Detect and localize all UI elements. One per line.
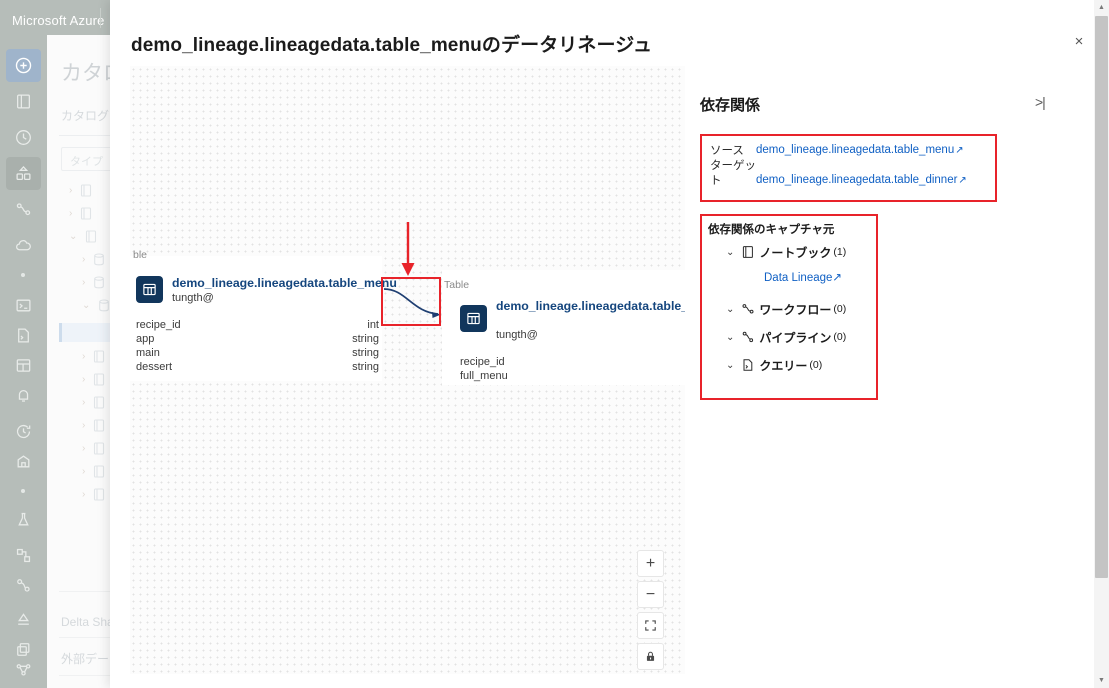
- lineage-modal: demo_lineage.lineagedata.table_menuのデータリ…: [110, 0, 1109, 688]
- target-label-line1: ターゲッ: [710, 159, 756, 174]
- topbar-divider: [100, 8, 101, 28]
- capture-source-box: 依存関係のキャプチャ元 ⌄ ノートブック (1) Data Lineage↗ ⌄: [700, 214, 878, 400]
- chevron-down-icon: ⌄: [726, 332, 734, 343]
- source-column-row[interactable]: main string: [136, 347, 379, 361]
- zoom-in-button[interactable]: +: [637, 550, 664, 577]
- column-type: int: [367, 319, 379, 331]
- catalog-subtitle: カタログ: [61, 107, 109, 124]
- rail-item-add[interactable]: [6, 49, 41, 82]
- capture-group-workflow[interactable]: ⌄ ワークフロー (0): [726, 300, 846, 318]
- column-name: recipe_id: [460, 356, 505, 368]
- chevron-right-icon: ›: [82, 351, 85, 362]
- capture-group-count: (0): [833, 331, 846, 343]
- catalog-search-placeholder: タイプ: [70, 153, 103, 169]
- source-column-row[interactable]: recipe_id int: [136, 319, 379, 333]
- capture-group-query[interactable]: ⌄ クエリー (0): [726, 356, 822, 374]
- column-name: recipe_id: [136, 319, 181, 331]
- source-node-name[interactable]: demo_lineage.lineagedata.table_menu: [172, 276, 377, 291]
- catalog-tree-item[interactable]: ⌄: [82, 295, 110, 315]
- catalog-tree-item[interactable]: ›: [82, 369, 105, 389]
- capture-group-count: (0): [833, 303, 846, 315]
- rail-item-terminal[interactable]: [6, 289, 41, 322]
- target-node-kind-label: Table: [444, 279, 469, 291]
- chevron-right-icon: ›: [82, 489, 85, 500]
- external-link-icon: ↗: [958, 175, 966, 186]
- capture-group-label: ノートブック: [759, 244, 831, 261]
- rail-item-recent[interactable]: [6, 121, 41, 154]
- catalog-tree-item[interactable]: ›: [69, 203, 92, 223]
- lineage-canvas[interactable]: ble demo_lineage.lineagedata.table_menu …: [130, 66, 685, 674]
- capture-group-label: パイプライン: [759, 329, 831, 346]
- annotation-arrow-icon: [392, 222, 432, 280]
- chevron-right-icon: ›: [82, 420, 85, 431]
- rail-item-experiments[interactable]: [6, 503, 41, 536]
- modal-scrollbar[interactable]: ▲ ▼: [1094, 0, 1109, 688]
- scrollbar-thumb[interactable]: [1095, 16, 1108, 578]
- capture-group-count: (0): [809, 359, 822, 371]
- chevron-right-icon: ›: [82, 374, 85, 385]
- chevron-down-icon: ⌄: [69, 231, 77, 242]
- capture-child-data-lineage[interactable]: Data Lineage↗: [764, 270, 842, 284]
- capture-source-title: 依存関係のキャプチャ元: [708, 221, 834, 237]
- rail-item-cloud[interactable]: [6, 229, 41, 262]
- source-node-kind-label: ble: [133, 249, 147, 261]
- rail-item-catalog[interactable]: [6, 157, 41, 190]
- column-name: main: [136, 347, 160, 359]
- chevron-down-icon: ⌄: [82, 300, 90, 311]
- rail-item-serving[interactable]: [6, 603, 41, 636]
- source-column-row[interactable]: dessert string: [136, 361, 379, 375]
- azure-nav-rail: [0, 35, 47, 688]
- external-link-icon: ↗: [832, 272, 842, 284]
- column-name: app: [136, 333, 154, 345]
- catalog-tree-item[interactable]: ›: [69, 180, 92, 200]
- lineage-node-target[interactable]: Table demo_lineage.lineagedata.table_din…: [442, 270, 685, 385]
- rail-item-marketplace[interactable]: [6, 683, 41, 688]
- chevron-right-icon: ›: [69, 208, 72, 219]
- source-node-owner: tungth@: [172, 292, 214, 304]
- capture-group-label: クエリー: [759, 357, 807, 374]
- rail-item-feature-store[interactable]: [6, 539, 41, 572]
- chevron-down-icon: ⌄: [726, 247, 734, 258]
- catalog-tree-item[interactable]: ›: [82, 438, 105, 458]
- catalog-tree-item[interactable]: ›: [82, 272, 105, 292]
- dependency-panel-title: 依存関係: [700, 94, 760, 115]
- target-link[interactable]: demo_lineage.lineagedata.table_dinner↗: [756, 174, 967, 186]
- source-link[interactable]: demo_lineage.lineagedata.table_menu↗: [756, 144, 964, 156]
- zoom-out-button[interactable]: −: [637, 581, 664, 608]
- rail-item-model[interactable]: [6, 445, 41, 478]
- catalog-tree-item[interactable]: ›: [82, 415, 105, 435]
- catalog-tree-item[interactable]: ›: [82, 461, 105, 481]
- catalog-tree-item[interactable]: ›: [82, 484, 105, 504]
- fit-screen-icon[interactable]: [637, 612, 664, 639]
- capture-group-notebook[interactable]: ⌄ ノートブック (1): [726, 243, 846, 261]
- target-link-text: demo_lineage.lineagedata.table_dinner: [756, 174, 957, 186]
- rail-item-alerts[interactable]: [6, 379, 41, 412]
- target-node-name[interactable]: demo_lineage.lineagedata.table_dinner: [496, 299, 685, 314]
- capture-group-label: ワークフロー: [759, 301, 831, 318]
- rail-item-partner[interactable]: [6, 653, 41, 686]
- target-column-row[interactable]: recipe_id i: [460, 356, 685, 370]
- edge-highlight-box: [381, 277, 441, 326]
- column-name: full_menu: [460, 370, 508, 382]
- dependency-panel: 依存関係 >| ソース demo_lineage.lineagedata.tab…: [700, 66, 1070, 674]
- catalog-tree-item[interactable]: ›: [82, 249, 105, 269]
- scroll-down-icon[interactable]: ▼: [1094, 673, 1109, 688]
- close-icon[interactable]: ×: [1065, 27, 1093, 55]
- table-icon: [136, 276, 163, 303]
- catalog-tree-item[interactable]: ›: [82, 392, 105, 412]
- rail-item-pipelines[interactable]: [6, 569, 41, 602]
- dependency-endpoints-box: ソース demo_lineage.lineagedata.table_menu↗…: [700, 134, 997, 202]
- column-type: string: [352, 333, 379, 345]
- rail-item-notebook[interactable]: [6, 85, 41, 118]
- chevron-down-icon: ⌄: [726, 360, 734, 371]
- lock-icon[interactable]: [637, 643, 664, 670]
- lineage-node-source[interactable]: ble demo_lineage.lineagedata.table_menu …: [130, 256, 382, 381]
- chevron-right-icon: ›: [82, 277, 85, 288]
- workflow-icon: [741, 302, 755, 316]
- rail-item-dashboard[interactable]: [6, 349, 41, 382]
- column-name: dessert: [136, 361, 172, 373]
- external-link-icon: ↗: [955, 145, 963, 156]
- catalog-tree-item[interactable]: ⌄: [69, 226, 97, 246]
- source-column-row[interactable]: app string: [136, 333, 379, 347]
- chevron-right-icon: ›: [69, 185, 72, 196]
- column-type: string: [352, 361, 379, 373]
- modal-title: demo_lineage.lineagedata.table_menuのデータリ…: [131, 30, 652, 57]
- chevron-down-icon: ⌄: [726, 304, 734, 315]
- column-type: string: [352, 347, 379, 359]
- rail-item-workflow[interactable]: [6, 193, 41, 226]
- rail-item-query[interactable]: [6, 319, 41, 352]
- rail-separator-dot-2: [21, 489, 25, 493]
- capture-child-label: Data Lineage: [764, 272, 832, 284]
- chevron-right-icon: ›: [82, 397, 85, 408]
- table-icon: [460, 305, 487, 332]
- target-column-row[interactable]: full_menu stri: [460, 370, 685, 384]
- scroll-up-icon[interactable]: ▲: [1094, 0, 1109, 15]
- target-node-owner: tungth@: [496, 329, 538, 341]
- chevron-right-icon: ›: [82, 466, 85, 477]
- capture-group-pipeline[interactable]: ⌄ パイプライン (0): [726, 328, 846, 346]
- rail-item-job-runs[interactable]: [6, 415, 41, 448]
- collapse-panel-icon[interactable]: >|: [1035, 94, 1045, 110]
- pipeline-icon: [741, 330, 755, 344]
- notebook-icon: [741, 245, 755, 259]
- query-icon: [741, 358, 755, 372]
- catalog-tree-item[interactable]: ›: [82, 346, 105, 366]
- target-label-line2: ト: [710, 174, 722, 189]
- source-label: ソース: [710, 144, 744, 159]
- chevron-right-icon: ›: [82, 443, 85, 454]
- chevron-right-icon: ›: [82, 254, 85, 265]
- capture-group-count: (1): [833, 246, 846, 258]
- source-link-text: demo_lineage.lineagedata.table_menu: [756, 144, 954, 156]
- azure-brand: Microsoft Azure: [12, 13, 105, 28]
- rail-separator-dot-1: [21, 273, 25, 277]
